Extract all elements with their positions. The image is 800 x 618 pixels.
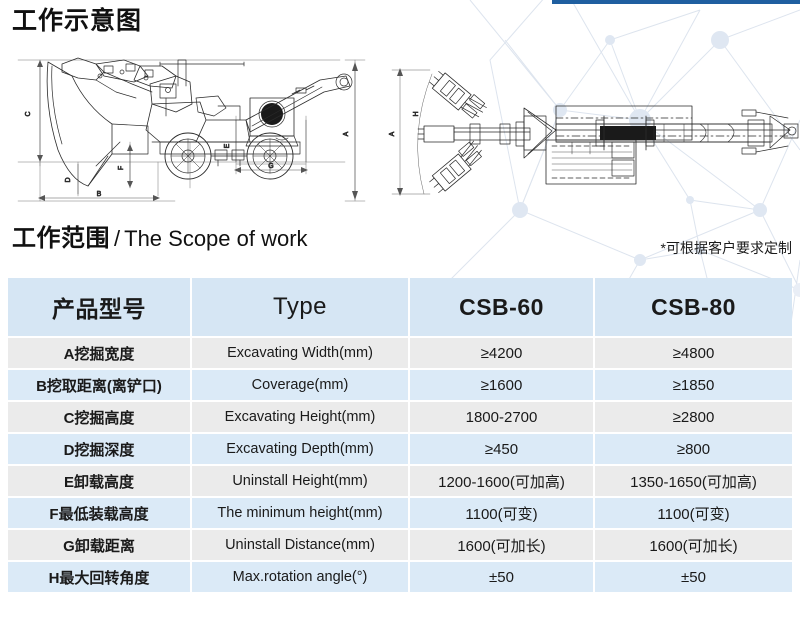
product-spec-page: 工作示意图 bbox=[0, 0, 800, 618]
spec-value-csb60: ≥4200 bbox=[410, 338, 595, 368]
scope-title: 工作范围/The Scope of work bbox=[12, 222, 308, 259]
dim-label-D: D bbox=[65, 177, 72, 182]
dim-label-F: F bbox=[118, 166, 125, 170]
table-row: G卸载距离 Uninstall Distance(mm) 1600(可加长) 1… bbox=[8, 530, 792, 560]
customization-note: *可根据客户要求定制 bbox=[661, 238, 792, 258]
table-row: A挖掘宽度 Excavating Width(mm) ≥4200 ≥4800 bbox=[8, 338, 792, 368]
column-header-csb60: CSB-60 bbox=[410, 278, 595, 336]
technical-diagram-band: C D B G A F E bbox=[0, 46, 800, 214]
dim-label-E: E bbox=[224, 143, 231, 148]
table-row: D挖掘深度 Excavating Depth(mm) ≥450 ≥800 bbox=[8, 434, 792, 464]
spec-type: The minimum height(mm) bbox=[192, 498, 410, 528]
spec-value-csb60: ±50 bbox=[410, 562, 595, 592]
specification-table: 产品型号 Type CSB-60 CSB-80 A挖掘宽度 Excavating… bbox=[8, 276, 792, 594]
table-row: F最低装载高度 The minimum height(mm) 1100(可变) … bbox=[8, 498, 792, 528]
machine-technical-drawings: C D B G A F E bbox=[0, 46, 800, 214]
spec-value-csb80: ±50 bbox=[595, 562, 792, 592]
spec-value-csb60: ≥450 bbox=[410, 434, 595, 464]
spec-type: Excavating Height(mm) bbox=[192, 402, 410, 432]
spec-type: Max.rotation angle(°) bbox=[192, 562, 410, 592]
spec-value-csb80: 1350-1650(可加高) bbox=[595, 466, 792, 496]
side-elevation-view: C D B G A F E bbox=[18, 58, 365, 201]
spec-label: B挖取距离(离铲口) bbox=[8, 370, 192, 400]
plan-top-view: A H bbox=[389, 68, 798, 196]
table-row: B挖取距离(离铲口) Coverage(mm) ≥1600 ≥1850 bbox=[8, 370, 792, 400]
spec-value-csb60: 1600(可加长) bbox=[410, 530, 595, 560]
spec-value-csb60: 1100(可变) bbox=[410, 498, 595, 528]
spec-value-csb60: ≥1600 bbox=[410, 370, 595, 400]
spec-value-csb80: 1100(可变) bbox=[595, 498, 792, 528]
spec-label: C挖掘高度 bbox=[8, 402, 192, 432]
table-body: A挖掘宽度 Excavating Width(mm) ≥4200 ≥4800 B… bbox=[8, 338, 792, 592]
spec-type: Uninstall Distance(mm) bbox=[192, 530, 410, 560]
scope-title-en: The Scope of work bbox=[124, 226, 307, 251]
dim-label-B: B bbox=[97, 191, 102, 198]
spec-label: D挖掘深度 bbox=[8, 434, 192, 464]
dim-label-A: A bbox=[343, 131, 350, 136]
column-header-csb80: CSB-80 bbox=[595, 278, 792, 336]
table-row: C挖掘高度 Excavating Height(mm) 1800-2700 ≥2… bbox=[8, 402, 792, 432]
spec-value-csb80: ≥800 bbox=[595, 434, 792, 464]
dim-label-C: C bbox=[25, 111, 32, 116]
spec-label: H最大回转角度 bbox=[8, 562, 192, 592]
spec-label: E卸载高度 bbox=[8, 466, 192, 496]
spec-label: F最低装载高度 bbox=[8, 498, 192, 528]
dim-label-H: H bbox=[413, 111, 420, 116]
column-header-model: 产品型号 bbox=[8, 278, 192, 336]
spec-value-csb80: ≥1850 bbox=[595, 370, 792, 400]
scope-heading-row: 工作范围/The Scope of work *可根据客户要求定制 bbox=[0, 222, 800, 268]
scope-title-cn: 工作范围 bbox=[12, 225, 110, 252]
table-row: E卸载高度 Uninstall Height(mm) 1200-1600(可加高… bbox=[8, 466, 792, 496]
spec-type: Excavating Depth(mm) bbox=[192, 434, 410, 464]
spec-value-csb60: 1800-2700 bbox=[410, 402, 595, 432]
spec-value-csb80: 1600(可加长) bbox=[595, 530, 792, 560]
spec-type: Excavating Width(mm) bbox=[192, 338, 410, 368]
scope-title-separator: / bbox=[110, 226, 124, 251]
spec-type: Coverage(mm) bbox=[192, 370, 410, 400]
spec-label: G卸载距离 bbox=[8, 530, 192, 560]
spec-type: Uninstall Height(mm) bbox=[192, 466, 410, 496]
spec-value-csb60: 1200-1600(可加高) bbox=[410, 466, 595, 496]
page-title-diagram: 工作示意图 bbox=[12, 6, 142, 36]
spec-value-csb80: ≥4800 bbox=[595, 338, 792, 368]
dim-label-A-top: A bbox=[389, 131, 396, 136]
dim-label-G: G bbox=[268, 163, 273, 170]
top-accent-bar bbox=[552, 0, 800, 4]
table-row: H最大回转角度 Max.rotation angle(°) ±50 ±50 bbox=[8, 562, 792, 592]
spec-value-csb80: ≥2800 bbox=[595, 402, 792, 432]
column-header-type: Type bbox=[192, 278, 410, 336]
spec-label: A挖掘宽度 bbox=[8, 338, 192, 368]
table-header-row: 产品型号 Type CSB-60 CSB-80 bbox=[8, 278, 792, 336]
